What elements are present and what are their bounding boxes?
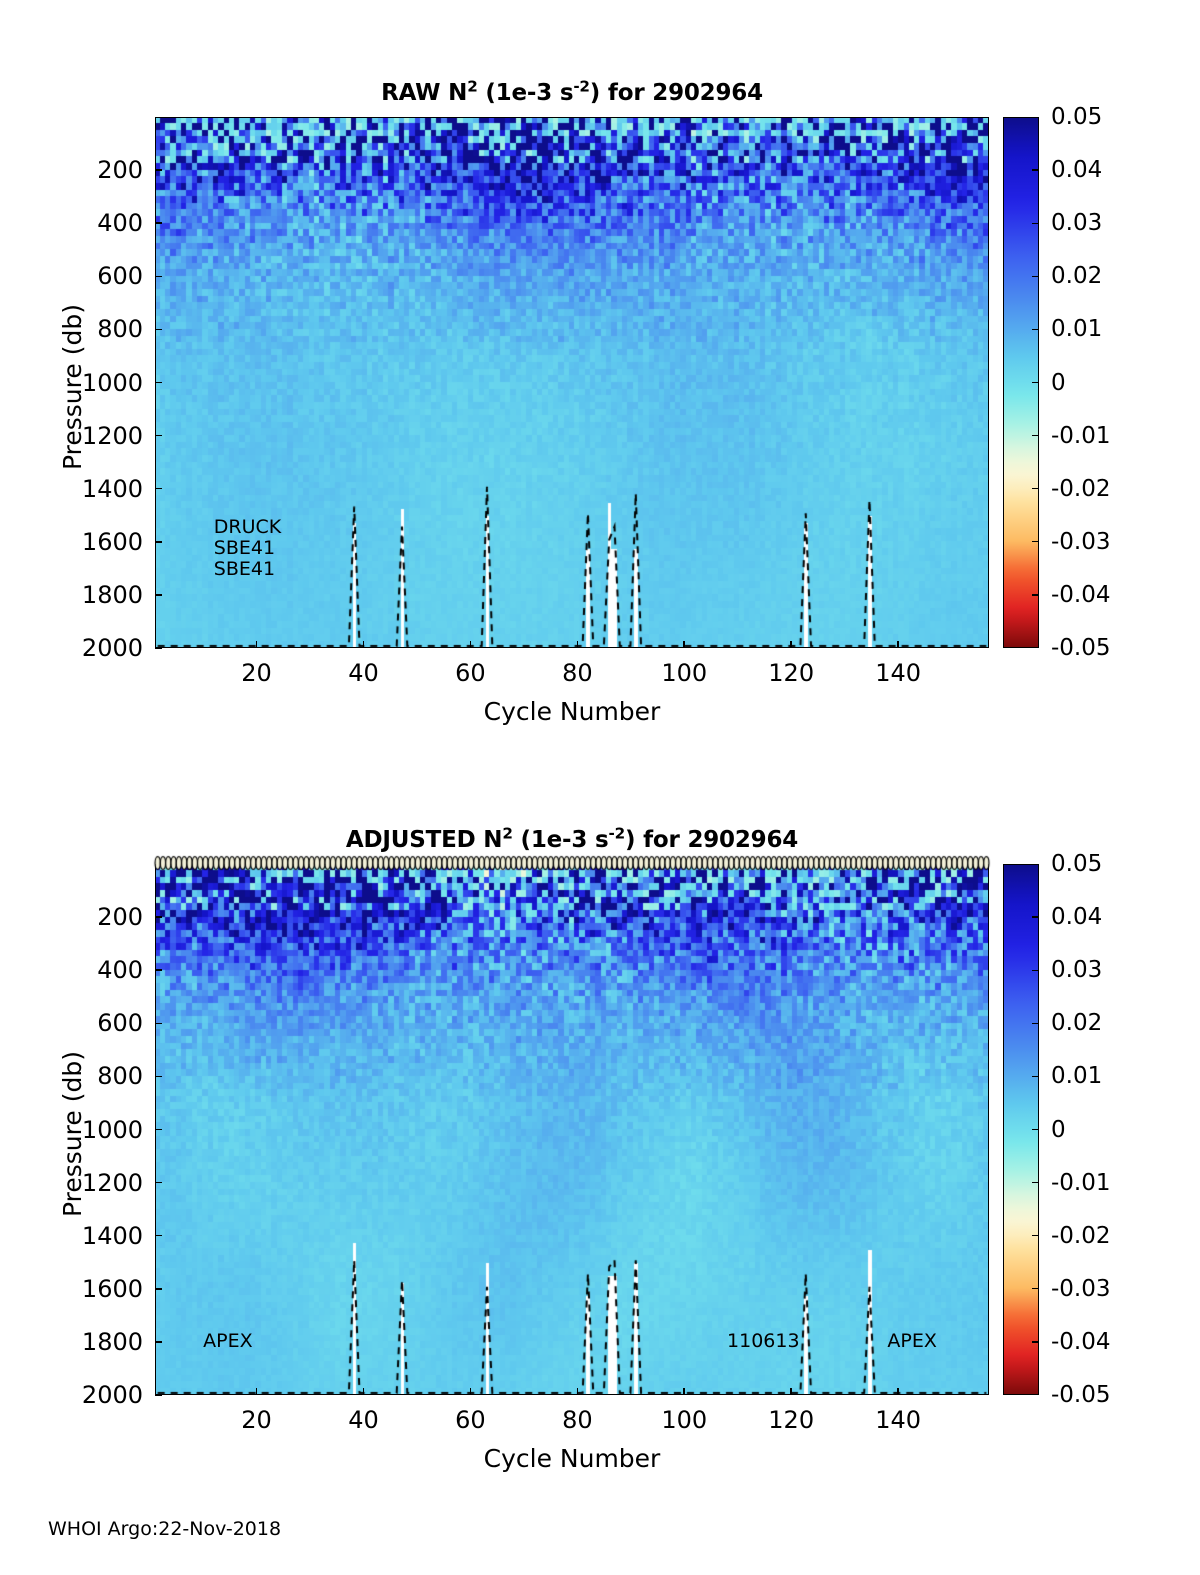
raw-colorbar-tickmark-7 [1032, 488, 1039, 489]
raw-title-mid: (1e-3 s [478, 80, 574, 106]
raw-xtickmark-20 [256, 641, 258, 648]
adjusted-colorbar-tick-0_05: 0.05 [1051, 853, 1102, 876]
raw-xlabel: Cycle Number [155, 697, 989, 726]
raw-xtick-120: 120 [751, 661, 831, 685]
adjusted-title-mid: (1e-3 s [513, 827, 609, 853]
adjusted-colorbar-tickmark-2 [1032, 970, 1039, 971]
raw-colorbar-tick-neg0_02: -0.02 [1051, 478, 1111, 501]
raw-title-exponent: 2 [467, 77, 477, 95]
adjusted-ytick-1800: 1800 [0, 1330, 143, 1354]
adjusted-xtickmark-100 [683, 1388, 685, 1395]
raw-ytickmark-1000 [155, 382, 162, 384]
raw-colorbar-tickmark-2 [1032, 223, 1039, 224]
adjusted-colorbar-tickmark-7 [1032, 1235, 1039, 1236]
raw-title-suffix: ) for 2902964 [590, 80, 763, 106]
raw-colorbar-tickmark-4 [1032, 329, 1039, 330]
raw-heatmap[interactable] [155, 117, 989, 648]
adjusted-platform-apex-right: APEX [887, 1329, 936, 1354]
raw-colorbar-tick-0_05: 0.05 [1051, 106, 1102, 129]
adjusted-ytick-400: 400 [0, 958, 143, 982]
adjusted-ytickmark-400 [155, 969, 162, 971]
adjusted-colorbar-tick-0_01: 0.01 [1051, 1065, 1102, 1088]
adjusted-xtickmark-80 [577, 1388, 579, 1395]
raw-colorbar-tick-neg0_03: -0.03 [1051, 531, 1111, 554]
adjusted-xtickmark-20 [256, 1388, 258, 1395]
raw-ytickmark-2000 [155, 647, 162, 649]
raw-xtickmark-140 [897, 641, 899, 648]
raw-xtick-40: 40 [324, 661, 404, 685]
adjusted-colorbar-tick-0: 0 [1051, 1119, 1066, 1142]
raw-xtick-60: 60 [430, 661, 510, 685]
adjusted-ytickmark-1400 [155, 1235, 162, 1237]
raw-colorbar-tickmark-3 [1032, 276, 1039, 277]
adjusted-xlabel: Cycle Number [155, 1444, 989, 1473]
raw-colorbar-tick-neg0_04: -0.04 [1051, 584, 1111, 607]
raw-ytick-200: 200 [0, 158, 143, 182]
adjusted-colorbar-tick-neg0_02: -0.02 [1051, 1225, 1111, 1248]
adjusted-colorbar-tick-0_04: 0.04 [1051, 906, 1102, 929]
raw-ytickmark-1800 [155, 594, 162, 596]
adjusted-colorbar-tick-neg0_04: -0.04 [1051, 1331, 1111, 1354]
adjusted-xtickmark-120 [790, 1388, 792, 1395]
raw-colorbar-tick-0_01: 0.01 [1051, 318, 1102, 341]
raw-colorbar-tick-0_02: 0.02 [1051, 265, 1102, 288]
adjusted-xtick-140: 140 [858, 1408, 938, 1432]
raw-xtick-80: 80 [537, 661, 617, 685]
adjusted-colorbar-tick-0_03: 0.03 [1051, 959, 1102, 982]
raw-title-prefix: RAW N [381, 80, 467, 106]
raw-xtickmark-120 [790, 641, 792, 648]
adjusted-colorbar-tickmark-4 [1032, 1076, 1039, 1077]
adjusted-colorbar-tickmark-9 [1032, 1341, 1039, 1342]
raw-xtickmark-40 [363, 641, 365, 648]
adjusted-xtick-20: 20 [217, 1408, 297, 1432]
adjusted-xtick-80: 80 [537, 1408, 617, 1432]
raw-xtickmark-60 [470, 641, 472, 648]
adjusted-ytickmark-1000 [155, 1129, 162, 1131]
adjusted-colorbar-tick-neg0_03: -0.03 [1051, 1278, 1111, 1301]
adjusted-xtickmark-40 [363, 1388, 365, 1395]
raw-colorbar-tick-neg0_05: -0.05 [1051, 637, 1111, 660]
adjusted-title-prefix: ADJUSTED N [346, 827, 502, 853]
raw-ytick-400: 400 [0, 211, 143, 235]
raw-ytickmark-1400 [155, 488, 162, 490]
adjusted-colorbar-tickmark-1 [1032, 916, 1039, 917]
adjusted-colorbar-tick-neg0_05: -0.05 [1051, 1384, 1111, 1407]
adjusted-ytick-1600: 1600 [0, 1277, 143, 1301]
adjusted-axes[interactable] [155, 864, 989, 1395]
adjusted-colorbar-tickmark-8 [1032, 1288, 1039, 1289]
raw-ytick-600: 600 [0, 264, 143, 288]
raw-xtickmark-80 [577, 641, 579, 648]
raw-xtickmark-100 [683, 641, 685, 648]
adjusted-ytick-2000: 2000 [0, 1383, 143, 1407]
adjusted-ytickmark-2000 [155, 1394, 162, 1396]
adjusted-wmo-110613: 110613 [727, 1329, 800, 1354]
raw-ylabel: Pressure (db) [58, 304, 87, 470]
raw-xtick-140: 140 [858, 661, 938, 685]
raw-xtick-100: 100 [644, 661, 724, 685]
adjusted-ytickmark-600 [155, 1023, 162, 1025]
raw-colorbar-tickmark-1 [1032, 169, 1039, 170]
figure-footer: WHOI Argo:22-Nov-2018 [48, 1518, 281, 1540]
adjusted-platform-apex-left: APEX [203, 1329, 252, 1354]
raw-ytick-2000: 2000 [0, 636, 143, 660]
raw-title-exponent-2: -2 [573, 77, 589, 95]
adjusted-xtick-120: 120 [751, 1408, 831, 1432]
raw-colorbar-tickmark-9 [1032, 594, 1039, 595]
adjusted-xtickmark-60 [470, 1388, 472, 1395]
raw-ytick-1800: 1800 [0, 583, 143, 607]
adjusted-xtick-40: 40 [324, 1408, 404, 1432]
raw-ytick-1400: 1400 [0, 477, 143, 501]
adjusted-ytickmark-200 [155, 916, 162, 918]
raw-colorbar-tick-0: 0 [1051, 372, 1066, 395]
adjusted-ytickmark-1800 [155, 1341, 162, 1343]
adjusted-ytick-600: 600 [0, 1011, 143, 1035]
raw-xtick-20: 20 [217, 661, 297, 685]
raw-colorbar-tick-0_04: 0.04 [1051, 159, 1102, 182]
adjusted-plot-title: ADJUSTED N2 (1e-3 s-2) for 2902964 [155, 827, 989, 853]
raw-ytickmark-200 [155, 169, 162, 171]
raw-colorbar-tickmark-6 [1032, 435, 1039, 436]
adjusted-ytick-200: 200 [0, 905, 143, 929]
adjusted-ytick-1400: 1400 [0, 1224, 143, 1248]
raw-sensor-sbe41-b: SBE41 [214, 557, 275, 582]
raw-colorbar-tick-0_03: 0.03 [1051, 212, 1102, 235]
raw-plot-title: RAW N2 (1e-3 s-2) for 2902964 [155, 80, 989, 106]
raw-ytickmark-800 [155, 329, 162, 331]
adjusted-xtick-100: 100 [644, 1408, 724, 1432]
adjusted-ytickmark-1600 [155, 1288, 162, 1290]
adjusted-colorbar-tick-neg0_01: -0.01 [1051, 1172, 1111, 1195]
raw-colorbar-tickmark-8 [1032, 541, 1039, 542]
adjusted-ylabel: Pressure (db) [58, 1051, 87, 1217]
raw-ytick-1600: 1600 [0, 530, 143, 554]
raw-colorbar-tickmark-5 [1032, 382, 1039, 383]
adjusted-heatmap[interactable] [155, 864, 989, 1395]
adjusted-colorbar-tickmark-5 [1032, 1129, 1039, 1130]
adjusted-top-marker-row [150, 853, 994, 873]
adjusted-colorbar-tickmark-3 [1032, 1023, 1039, 1024]
adjusted-xtickmark-140 [897, 1388, 899, 1395]
adjusted-ytickmark-800 [155, 1076, 162, 1078]
adjusted-ytickmark-1200 [155, 1182, 162, 1184]
raw-ytickmark-400 [155, 222, 162, 224]
adjusted-xtick-60: 60 [430, 1408, 510, 1432]
adjusted-title-exponent: 2 [502, 824, 512, 842]
adjusted-colorbar-tick-0_02: 0.02 [1051, 1012, 1102, 1035]
raw-ytickmark-600 [155, 276, 162, 278]
adjusted-title-suffix: ) for 2902964 [625, 827, 798, 853]
adjusted-colorbar-tickmark-6 [1032, 1182, 1039, 1183]
raw-ytickmark-1200 [155, 435, 162, 437]
raw-colorbar-tick-neg0_01: -0.01 [1051, 425, 1111, 448]
raw-ytickmark-1600 [155, 541, 162, 543]
raw-axes[interactable] [155, 117, 989, 648]
adjusted-title-exponent-2: -2 [609, 824, 625, 842]
